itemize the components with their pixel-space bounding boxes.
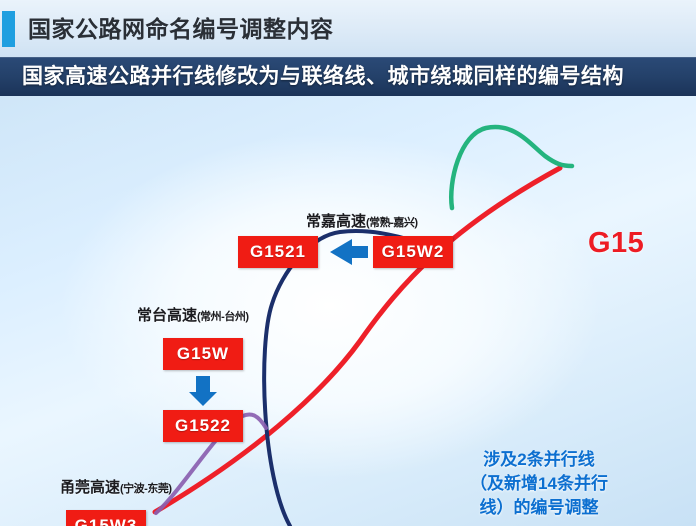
- branch-line-navy: [264, 231, 448, 526]
- header-subtitle-bar: 国家高速公路并行线修改为与联络线、城市绕城同样的编号结构: [0, 57, 696, 96]
- page-subtitle: 国家高速公路并行线修改为与联络线、城市绕城同样的编号结构: [22, 57, 624, 96]
- code-box-old-top: G15W2: [373, 236, 453, 268]
- code-box-old-middle: G15W: [163, 338, 243, 370]
- road-name-bottom: 甬莞高速: [60, 479, 120, 496]
- diagram-canvas: 常嘉高速(常熟-嘉兴) 常台高速(常州-台州) 甬莞高速(宁波-东莞) G152…: [0, 96, 696, 526]
- road-range-top: (常熟-嘉兴): [366, 217, 418, 229]
- header-title-bar: 国家公路网命名编号调整内容: [0, 0, 696, 57]
- code-box-new-middle: G1522: [163, 410, 243, 442]
- note-line-3: 线）的编号调整: [446, 496, 632, 520]
- road-name-top: 常嘉高速: [306, 213, 366, 230]
- page-title: 国家公路网命名编号调整内容: [28, 11, 334, 47]
- header-accent-block: [2, 11, 15, 47]
- code-box-old-bottom: G15W3: [66, 510, 146, 526]
- code-box-new-top: G1521: [238, 236, 318, 268]
- slide-root: 国家公路网命名编号调整内容 国家高速公路并行线修改为与联络线、城市绕城同样的编号…: [0, 0, 696, 526]
- road-label-bottom: 甬莞高速(宁波-东莞): [60, 476, 172, 497]
- note-line-2: （及新增14条并行: [446, 472, 632, 496]
- road-name-middle: 常台高速: [137, 307, 197, 324]
- note-block: 涉及2条并行线 （及新增14条并行 线）的编号调整: [446, 448, 632, 520]
- arrow-down-icon-middle: [189, 376, 217, 406]
- road-label-middle: 常台高速(常州-台州): [137, 304, 249, 325]
- arrow-left-icon: [330, 239, 368, 265]
- main-route-label: G15: [588, 227, 644, 260]
- road-label-top: 常嘉高速(常熟-嘉兴): [306, 210, 418, 231]
- road-range-middle: (常州-台州): [197, 311, 249, 323]
- note-line-1: 涉及2条并行线: [446, 448, 632, 472]
- road-range-bottom: (宁波-东莞): [120, 483, 172, 495]
